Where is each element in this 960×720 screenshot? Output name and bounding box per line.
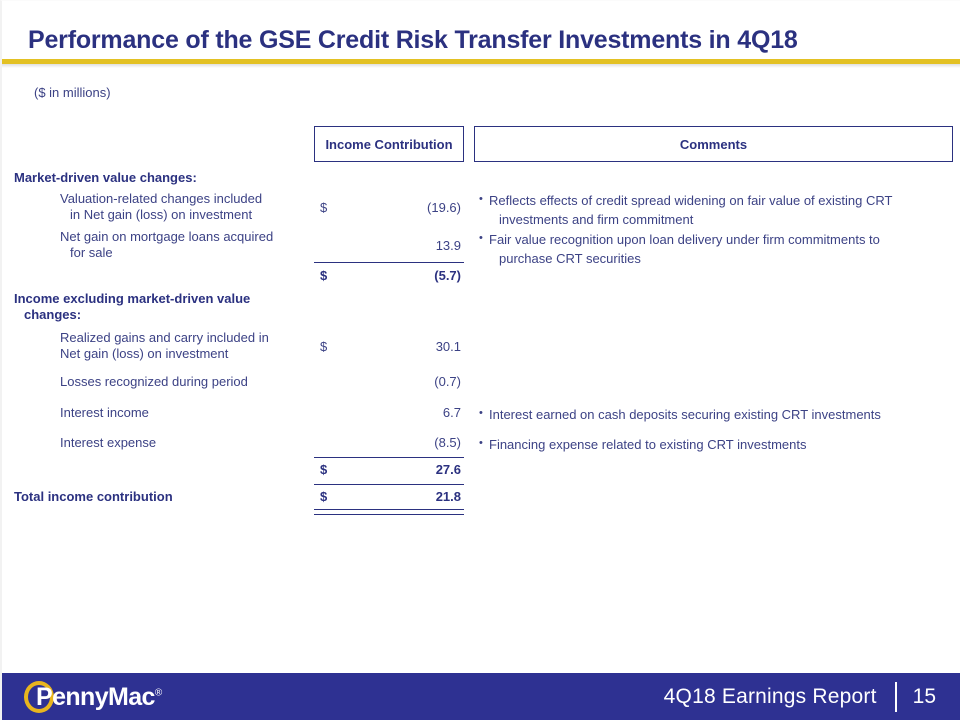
column-header-comments: Comments <box>474 126 953 162</box>
total-rule-top <box>314 484 464 485</box>
page-number: 15 <box>913 685 936 709</box>
comment-text: Financing expense related to existing CR… <box>489 435 939 454</box>
row-label-interest-income: Interest income <box>60 405 310 421</box>
currency-symbol: $ <box>320 200 327 215</box>
comment-item-1: • Reflects effects of credit spread wide… <box>479 191 939 229</box>
row-label-valuation-related: Valuation-related changes included in Ne… <box>60 191 310 223</box>
title-divider-shadow <box>2 64 960 68</box>
slide-footer: PennyMac® 4Q18 Earnings Report 15 <box>2 673 960 720</box>
section-heading-line2: changes: <box>14 307 81 323</box>
row-label-line2: Net gain (loss) on investment <box>60 346 228 361</box>
value-amount: (8.5) <box>434 435 461 450</box>
value-amount: 13.9 <box>436 238 461 253</box>
row-label-line2: for sale <box>60 245 113 261</box>
currency-symbol: $ <box>320 268 327 283</box>
value-row-realized-gains-carry: $ 30.1 <box>314 339 464 357</box>
page-title: Performance of the GSE Credit Risk Trans… <box>28 26 928 55</box>
row-label-losses-recognized: Losses recognized during period <box>60 374 310 390</box>
footer-right-group: 4Q18 Earnings Report 15 <box>664 682 936 712</box>
comment-line1: Fair value recognition upon loan deliver… <box>489 232 880 247</box>
row-label-interest-expense: Interest expense <box>60 435 310 451</box>
subtotal-rule-income-excluding <box>314 457 464 458</box>
comment-line2: investments and firm commitment <box>489 210 939 229</box>
row-label-line2: in Net gain (loss) on investment <box>60 207 252 223</box>
subtotal-rule-market-driven <box>314 262 464 263</box>
value-row-losses-recognized: (0.7) <box>314 374 464 392</box>
pennymac-logo: PennyMac® <box>24 680 204 714</box>
comment-line1: Reflects effects of credit spread wideni… <box>489 193 892 208</box>
row-label-realized-gains-carry: Realized gains and carry included in Net… <box>60 330 310 362</box>
value-amount: 30.1 <box>436 339 461 354</box>
bullet-icon: • <box>479 434 483 453</box>
comment-item-4: • Financing expense related to existing … <box>479 435 939 454</box>
units-label: ($ in millions) <box>34 85 111 100</box>
section-heading-market-driven: Market-driven value changes: <box>14 170 304 186</box>
footer-report-title: 4Q18 Earnings Report <box>664 685 877 709</box>
bullet-icon: • <box>479 190 483 209</box>
value-row-net-gain-mortgage-loans: 13.9 <box>314 238 464 256</box>
value-row-valuation-related: $ (19.6) <box>314 200 464 218</box>
value-amount: 27.6 <box>436 462 461 477</box>
row-label-total-income-contribution: Total income contribution <box>14 489 304 505</box>
comment-text: Fair value recognition upon loan deliver… <box>489 230 939 268</box>
value-row-interest-expense: (8.5) <box>314 435 464 453</box>
column-header-income-contribution: Income Contribution <box>314 126 464 162</box>
comment-line2: purchase CRT securities <box>489 249 939 268</box>
total-rule-double-bottom <box>314 509 464 515</box>
logo-wordmark: PennyMac® <box>36 683 162 712</box>
currency-symbol: $ <box>320 462 327 477</box>
row-label-line1: Net gain on mortgage loans acquired <box>60 229 273 244</box>
value-row-subtotal-market-driven: $ (5.7) <box>314 268 464 286</box>
row-label-line1: Valuation-related changes included <box>60 191 262 206</box>
currency-symbol: $ <box>320 489 327 504</box>
comment-item-3: • Interest earned on cash deposits secur… <box>479 405 939 424</box>
value-row-total-income-contribution: $ 21.8 <box>314 489 464 507</box>
footer-divider <box>895 682 897 712</box>
section-heading-line1: Income excluding market-driven value <box>14 291 250 306</box>
value-amount: (0.7) <box>434 374 461 389</box>
comment-text: Interest earned on cash deposits securin… <box>489 405 939 424</box>
bullet-icon: • <box>479 404 483 423</box>
slide-canvas: Performance of the GSE Credit Risk Trans… <box>0 0 960 720</box>
value-amount: (5.7) <box>434 268 461 283</box>
value-amount: (19.6) <box>427 200 461 215</box>
currency-symbol: $ <box>320 339 327 354</box>
value-amount: 6.7 <box>443 405 461 420</box>
value-row-subtotal-income-excluding: $ 27.6 <box>314 462 464 480</box>
row-label-line1: Realized gains and carry included in <box>60 330 269 345</box>
comment-text: Reflects effects of credit spread wideni… <box>489 191 939 229</box>
value-amount: 21.8 <box>436 489 461 504</box>
bullet-icon: • <box>479 229 483 248</box>
registered-trademark-icon: ® <box>155 688 162 699</box>
comment-item-2: • Fair value recognition upon loan deliv… <box>479 230 939 268</box>
section-heading-income-excluding: Income excluding market-driven value cha… <box>14 291 284 323</box>
value-row-interest-income: 6.7 <box>314 405 464 423</box>
row-label-net-gain-mortgage-loans: Net gain on mortgage loans acquired for … <box>60 229 310 261</box>
logo-wordmark-text: PennyMac <box>36 683 155 711</box>
